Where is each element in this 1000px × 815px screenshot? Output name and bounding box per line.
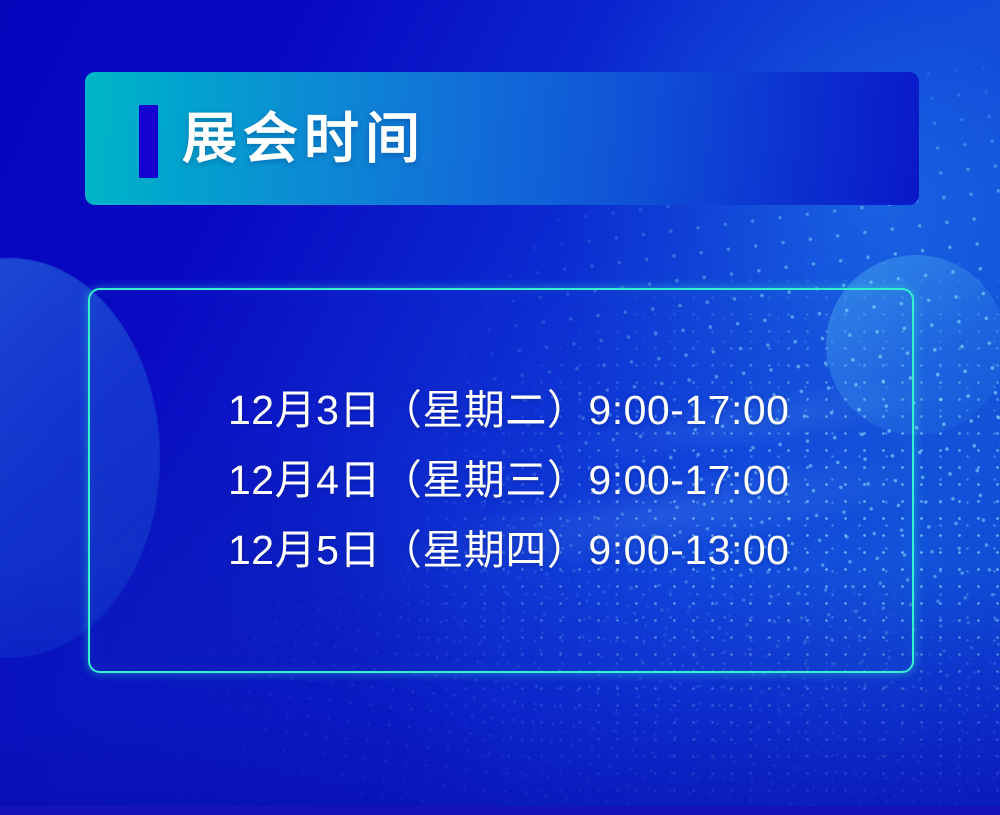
header-banner: 展会时间: [85, 72, 919, 205]
page-title: 展会时间: [182, 111, 426, 166]
background-bottom-band: [0, 806, 1000, 815]
accent-bar-icon: [139, 105, 158, 178]
schedule-item-day1: 12月3日（星期二）9:00-17:00: [228, 389, 848, 432]
exhibition-time-poster: 展会时间 12月3日（星期二）9:00-17:00 12月4日（星期三）9:00…: [0, 0, 1000, 815]
schedule-item-day3: 12月5日（星期四）9:00-13:00: [228, 529, 848, 572]
schedule-item-day2: 12月4日（星期三）9:00-17:00: [228, 459, 848, 502]
schedule-list: 12月3日（星期二）9:00-17:00 12月4日（星期三）9:00-17:0…: [228, 288, 848, 673]
